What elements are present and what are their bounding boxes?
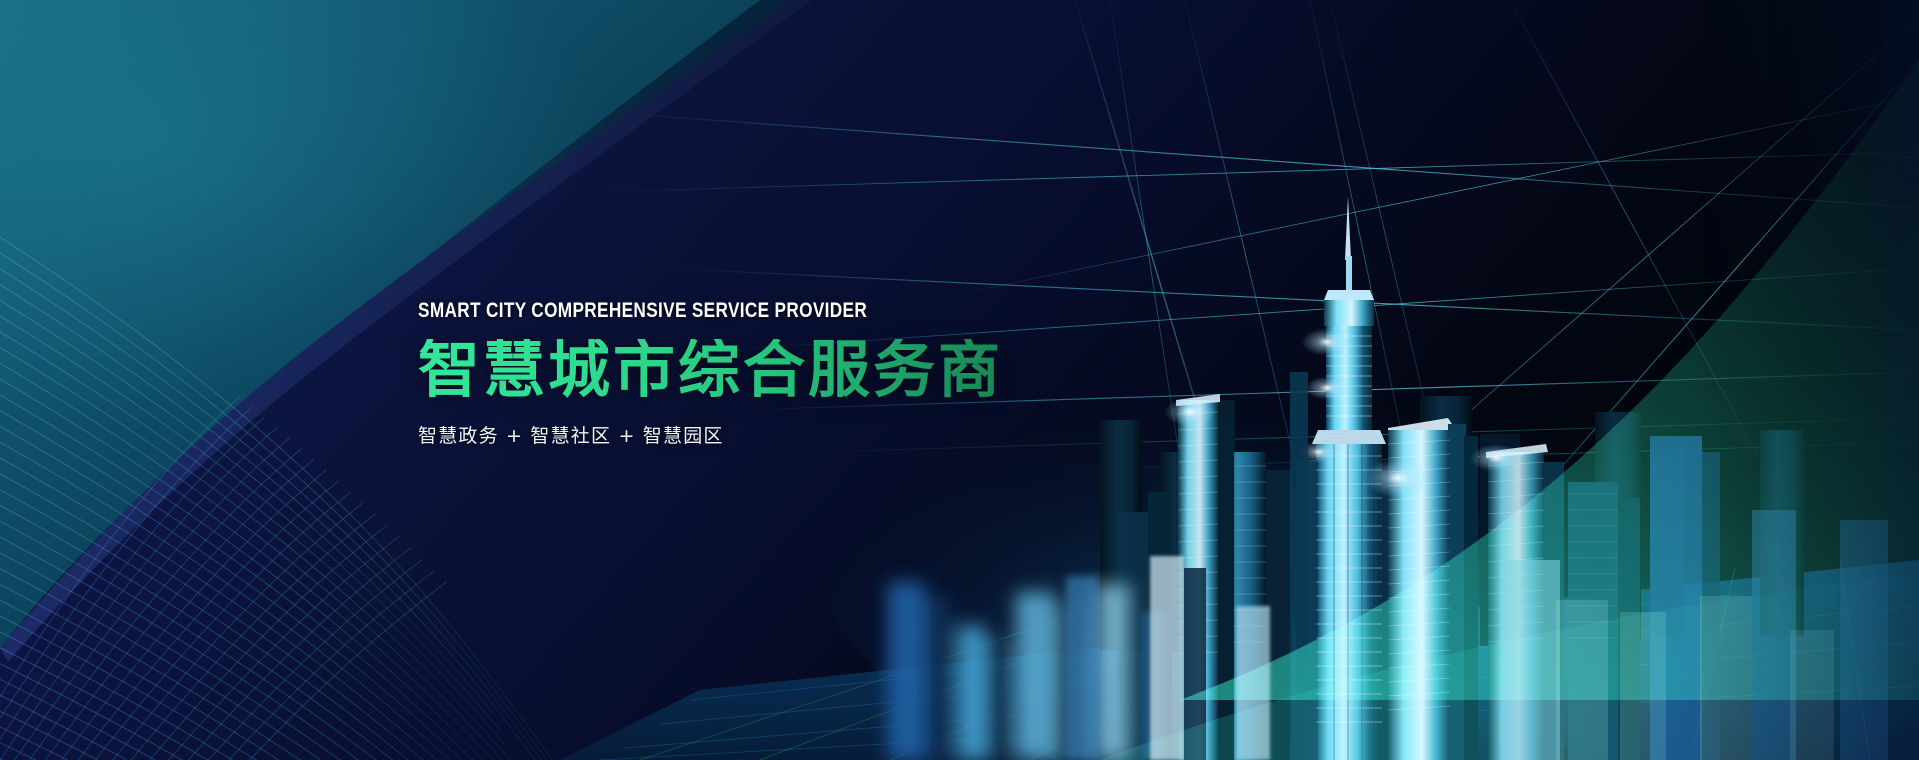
page-title: 智慧城市综合服务商 [418,339,1138,401]
hero-eyebrow: SMART CITY COMPREHENSIVE SERVICE PROVIDE… [418,300,1008,321]
hero-text-block: SMART CITY COMPREHENSIVE SERVICE PROVIDE… [418,300,1138,448]
hero-subtitle: 智慧政务 + 智慧社区 + 智慧园区 [418,421,1138,448]
smart-city-hero-banner: SMART CITY COMPREHENSIVE SERVICE PROVIDE… [0,0,1919,760]
